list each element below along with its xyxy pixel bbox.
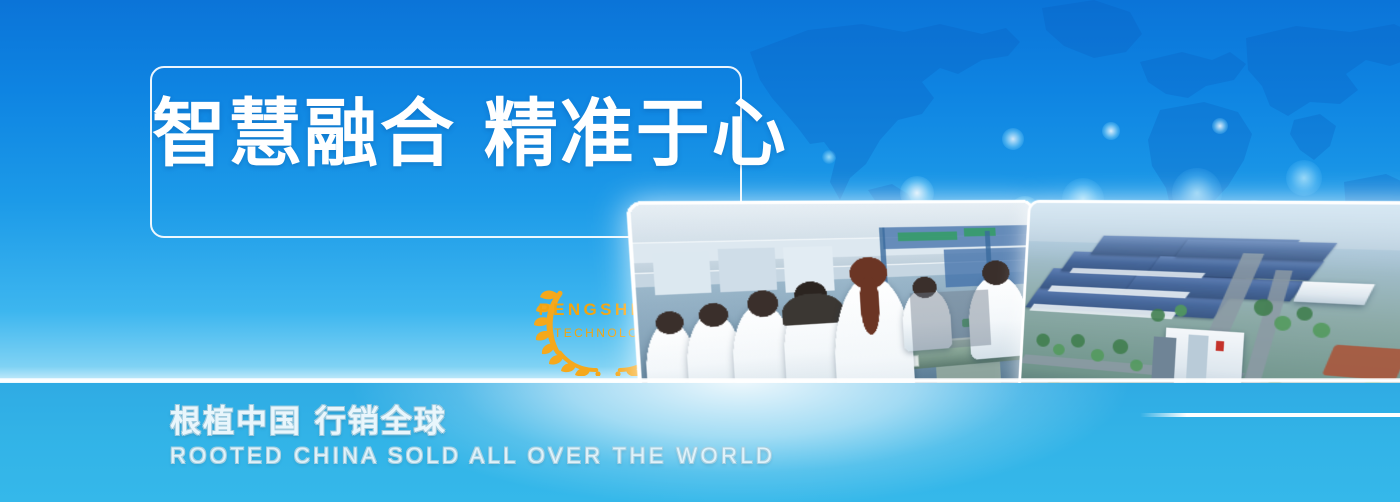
slogan-english: ROOTED CHINA SOLD ALL OVER THE WORLD — [170, 443, 775, 469]
divider-line-right — [1140, 413, 1400, 417]
divider-line — [0, 378, 1400, 383]
slogan-chinese: 根植中国 行销全球 — [170, 396, 447, 441]
promotional-banner: 智慧融合 精准于心 — [0, 0, 1400, 502]
page-title: 智慧融合 精准于心 — [152, 96, 740, 174]
